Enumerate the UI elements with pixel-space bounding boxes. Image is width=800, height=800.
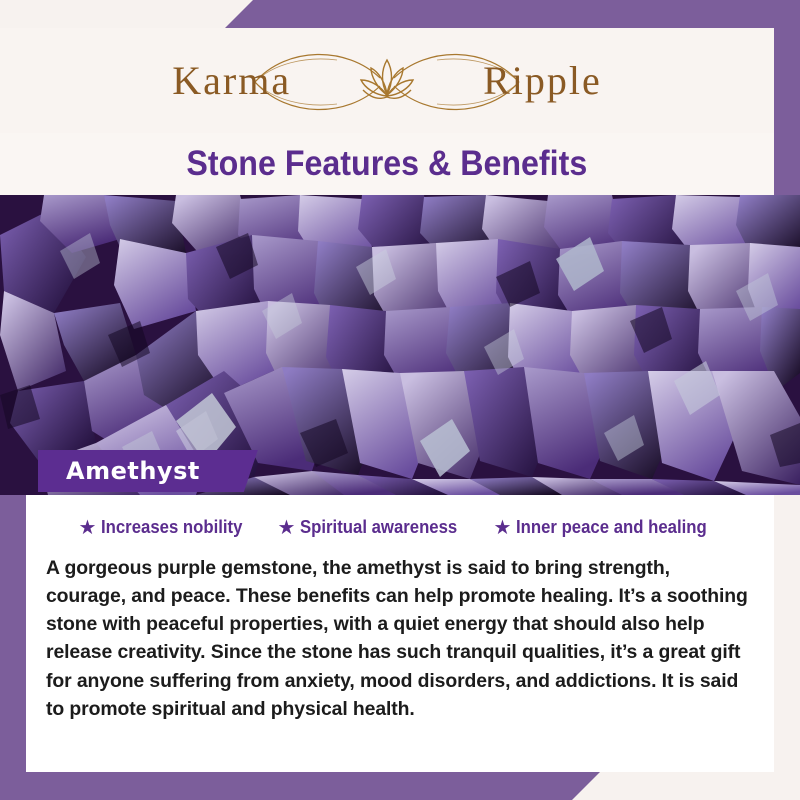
- decor-band-left: [0, 488, 26, 772]
- decor-band-right: [774, 0, 800, 195]
- benefits-list: ★ Increases nobility ★ Spiritual awarene…: [40, 517, 760, 538]
- brand-word-left: Karma: [172, 61, 291, 101]
- stone-name-banner: Amethyst: [38, 450, 258, 492]
- benefit-item: ★ Inner peace and healing: [494, 517, 722, 538]
- star-icon: ★: [277, 518, 295, 538]
- decor-band-top: [225, 0, 800, 28]
- benefit-item: ★ Spiritual awareness: [277, 517, 469, 538]
- brand-word-right: Ripple: [483, 61, 602, 101]
- benefit-label: Increases nobility: [101, 517, 242, 538]
- page-title: Stone Features & Benefits: [187, 144, 588, 184]
- brand-logo: Karma Ripple: [177, 38, 597, 124]
- decor-band-bottom: [0, 772, 600, 800]
- stone-details-panel: ★ Increases nobility ★ Spiritual awarene…: [26, 495, 774, 772]
- star-icon: ★: [494, 518, 512, 538]
- section-title-bar: Stone Features & Benefits: [0, 133, 774, 195]
- stone-description: A gorgeous purple gemstone, the amethyst…: [40, 554, 760, 723]
- stone-name: Amethyst: [66, 457, 200, 485]
- benefit-item: ★ Increases nobility: [78, 517, 253, 538]
- benefit-label: Inner peace and healing: [516, 517, 707, 538]
- benefit-label: Spiritual awareness: [300, 517, 457, 538]
- product-infographic: Karma Ripple Stone Features & Benefits: [0, 0, 800, 800]
- brand-header: Karma Ripple: [0, 28, 774, 133]
- star-icon: ★: [78, 518, 96, 538]
